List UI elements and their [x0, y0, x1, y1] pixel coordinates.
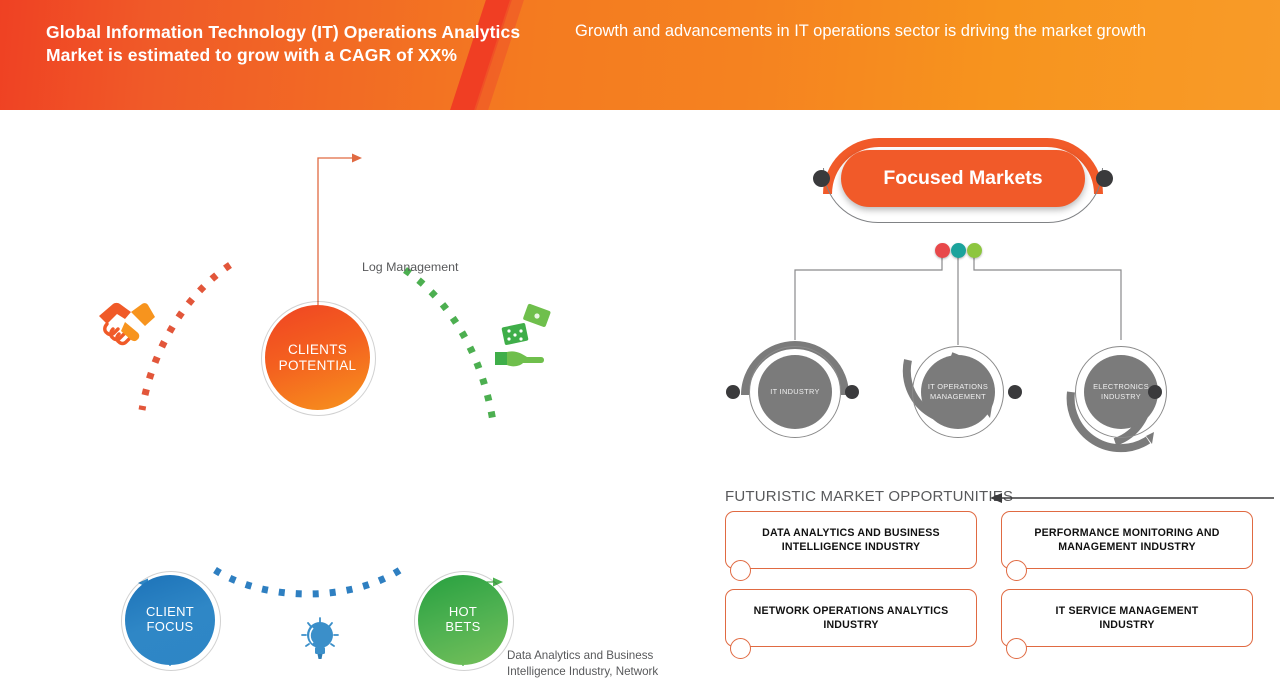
opportunity-marker-3 — [730, 638, 751, 659]
log-management-arrow — [352, 154, 362, 163]
handshake-icon — [99, 303, 155, 344]
opportunity-marker-2 — [1006, 560, 1027, 581]
log-management-leader-line — [318, 158, 352, 305]
node-hot-bets[interactable]: HOT BETS — [418, 575, 508, 665]
opportunity-box-1[interactable]: DATA ANALYTICS AND BUSINESS INTELLIGENCE… — [725, 511, 977, 569]
opportunity-box-3[interactable]: NETWORK OPERATIONS ANALYTICS INDUSTRY — [725, 589, 977, 647]
page-title: Global Information Technology (IT) Opera… — [46, 21, 536, 67]
page-subtitle: Growth and advancements in IT operations… — [575, 18, 1235, 44]
header-banner: Global Information Technology (IT) Opera… — [0, 0, 1280, 110]
hot-bets-line2: BETS — [445, 620, 480, 635]
dotted-arc-orange — [142, 265, 230, 410]
opportunity-marker-4 — [1006, 638, 1027, 659]
dotted-arc-green — [405, 270, 494, 428]
opportunity-marker-1 — [730, 560, 751, 581]
infographic-page: Global Information Technology (IT) Opera… — [0, 0, 1280, 680]
clients-potential-line1: CLIENTS — [288, 342, 347, 358]
label-hot-bets-detail: Data Analytics and Business Intelligence… — [507, 648, 672, 680]
money-in-hand-icon — [495, 303, 551, 366]
right-markets-diagram: Focused Markets IT INDUST — [718, 110, 1280, 680]
client-focus-line1: CLIENT — [146, 605, 194, 620]
dotted-arc-blue — [215, 570, 400, 594]
lightbulb-icon — [302, 618, 338, 659]
label-log-management: Log Management — [362, 260, 458, 275]
node-client-focus[interactable]: CLIENT FOCUS — [125, 575, 215, 665]
clients-potential-line2: POTENTIAL — [279, 358, 357, 374]
opportunity-box-4[interactable]: IT SERVICE MANAGEMENT INDUSTRY — [1001, 589, 1253, 647]
hot-bets-line1: HOT — [449, 605, 477, 620]
opportunity-box-2[interactable]: PERFORMANCE MONITORING AND MANAGEMENT IN… — [1001, 511, 1253, 569]
node-clients-potential[interactable]: CLIENTS POTENTIAL — [265, 305, 370, 410]
left-cycle-diagram: CLIENTS POTENTIAL CLIENT FOCUS HOT BETS … — [0, 110, 718, 680]
client-focus-line2: FOCUS — [147, 620, 194, 635]
